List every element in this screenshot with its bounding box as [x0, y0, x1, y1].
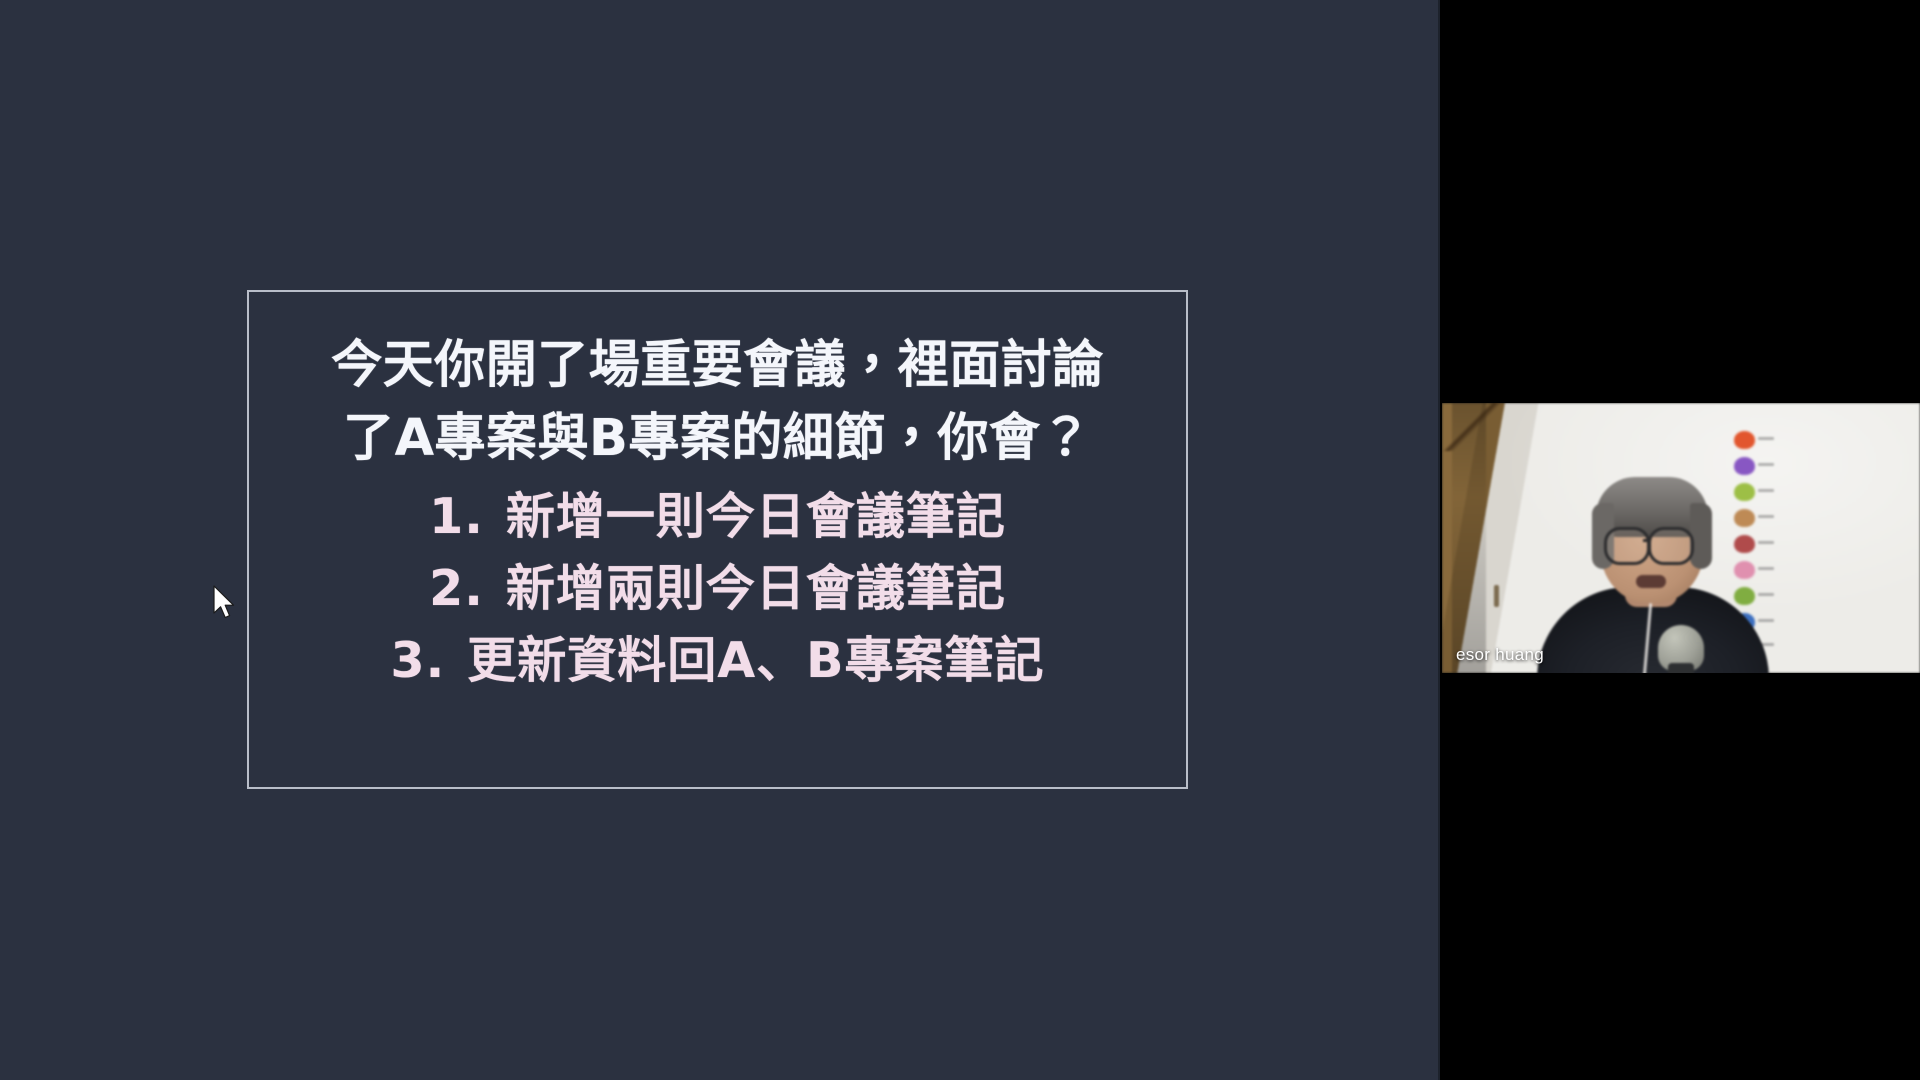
slide-headline-line-1: 今天你開了場重要會議，裡面討論 [247, 340, 1188, 391]
video-person [1542, 475, 1762, 673]
slide-option-3: 3.更新資料回A、B專案筆記 [247, 636, 1188, 685]
video-glasses-right [1648, 527, 1694, 565]
slide-option-1: 1.新增一則今日會議筆記 [247, 492, 1188, 541]
video-feed [1442, 403, 1920, 673]
slide-headline-line-2: 了A專案與B專案的細節，你會？ [247, 413, 1188, 464]
slide-text-block: 今天你開了場重要會議，裡面討論 了A專案與B專案的細節，你會？ 1.新增一則今日… [247, 340, 1188, 685]
video-door-handle [1494, 585, 1499, 607]
screen-root: 今天你開了場重要會議，裡面討論 了A專案與B專案的細節，你會？ 1.新增一則今日… [0, 0, 1920, 1080]
slide-option-2-number: 2. [429, 564, 484, 613]
slide-option-3-text: 更新資料回A、B專案筆記 [467, 632, 1044, 689]
slide-option-3-number: 3. [391, 636, 446, 685]
video-glasses-left [1604, 527, 1650, 565]
video-door-diagonal [1442, 403, 1506, 451]
video-microphone [1658, 625, 1704, 673]
slide-option-2-text: 新增兩則今日會議筆記 [506, 560, 1006, 617]
slide-option-1-number: 1. [429, 492, 484, 541]
slide-option-1-text: 新增一則今日會議筆記 [506, 488, 1006, 545]
participant-video-tile[interactable]: esor huang [1442, 403, 1920, 673]
participant-name-label: esor huang [1456, 645, 1544, 665]
mouse-cursor-icon [212, 585, 238, 623]
slide-option-2: 2.新增兩則今日會議筆記 [247, 564, 1188, 613]
shared-screen-slide: 今天你開了場重要會議，裡面討論 了A專案與B專案的細節，你會？ 1.新增一則今日… [0, 0, 1440, 1080]
